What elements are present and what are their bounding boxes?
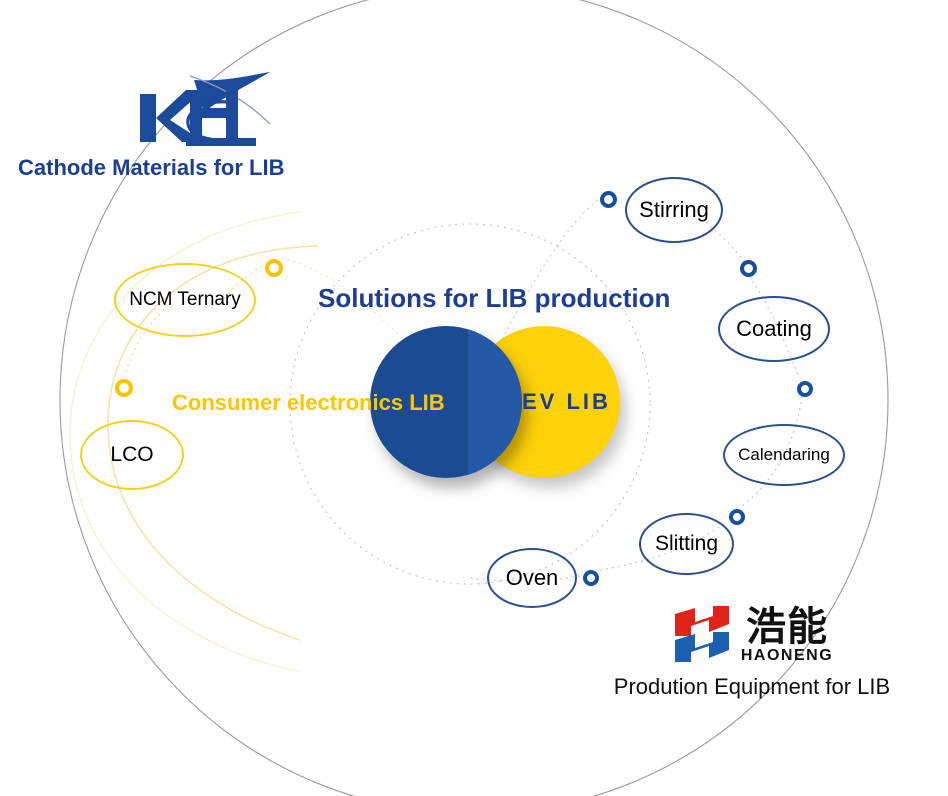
equipment-node-slitting[interactable]: Slitting [639, 513, 734, 575]
equipment-node-stirring[interactable]: Stirring [625, 177, 723, 243]
equipment-node-label: Oven [506, 565, 559, 591]
equipment-node-oven[interactable]: Oven [487, 548, 577, 608]
material-node-ncm-ternary[interactable]: NCM Ternary [114, 263, 256, 337]
kh-logo-icon [130, 72, 270, 148]
haoneng-brand-caption: Prodution Equipment for LIB [572, 674, 932, 700]
haoneng-mark-row: 浩能 HAONENG [572, 604, 932, 666]
material-node-lco[interactable]: LCO [80, 420, 184, 490]
material-node-label: LCO [110, 443, 153, 467]
equipment-connector-dot-stirring [600, 191, 617, 208]
equipment-node-coating[interactable]: Coating [718, 296, 830, 362]
cathode-brand-block: Cathode Materials for LIB [18, 72, 348, 181]
equipment-node-label: Calendaring [738, 445, 830, 465]
equipment-connector-dot-calendaring [797, 381, 813, 397]
haoneng-wordmark: 浩能 HAONENG [741, 607, 833, 664]
equipment-node-label: Coating [736, 316, 812, 342]
haoneng-chinese-name: 浩能 [746, 607, 828, 647]
equipment-node-label: Stirring [639, 197, 709, 223]
equipment-connector-dot-oven [583, 570, 599, 586]
diagram-canvas: Solutions for LIB production Consumer el… [0, 0, 948, 796]
equipment-connector-dot-coating [740, 260, 757, 277]
venn-overlap-lens [468, 326, 522, 478]
equipment-connector-dot-slitting [729, 509, 745, 525]
haoneng-logo-icon [671, 604, 733, 666]
ev-lib-label: EV LIB [522, 389, 611, 415]
cathode-brand-caption: Cathode Materials for LIB [18, 155, 348, 181]
equipment-node-calendaring[interactable]: Calendaring [723, 424, 845, 486]
haoneng-latin-name: HAONENG [741, 648, 833, 664]
consumer-electronics-label: Consumer electronics LIB [172, 390, 445, 416]
equipment-node-label: Slitting [655, 532, 718, 556]
material-connector-dot-ncm-ternary [265, 259, 283, 277]
material-connector-dot-lco [115, 379, 133, 397]
material-node-label: NCM Ternary [129, 289, 241, 311]
center-title: Solutions for LIB production [318, 283, 670, 314]
haoneng-brand-block: 浩能 HAONENG Prodution Equipment for LIB [572, 604, 932, 700]
